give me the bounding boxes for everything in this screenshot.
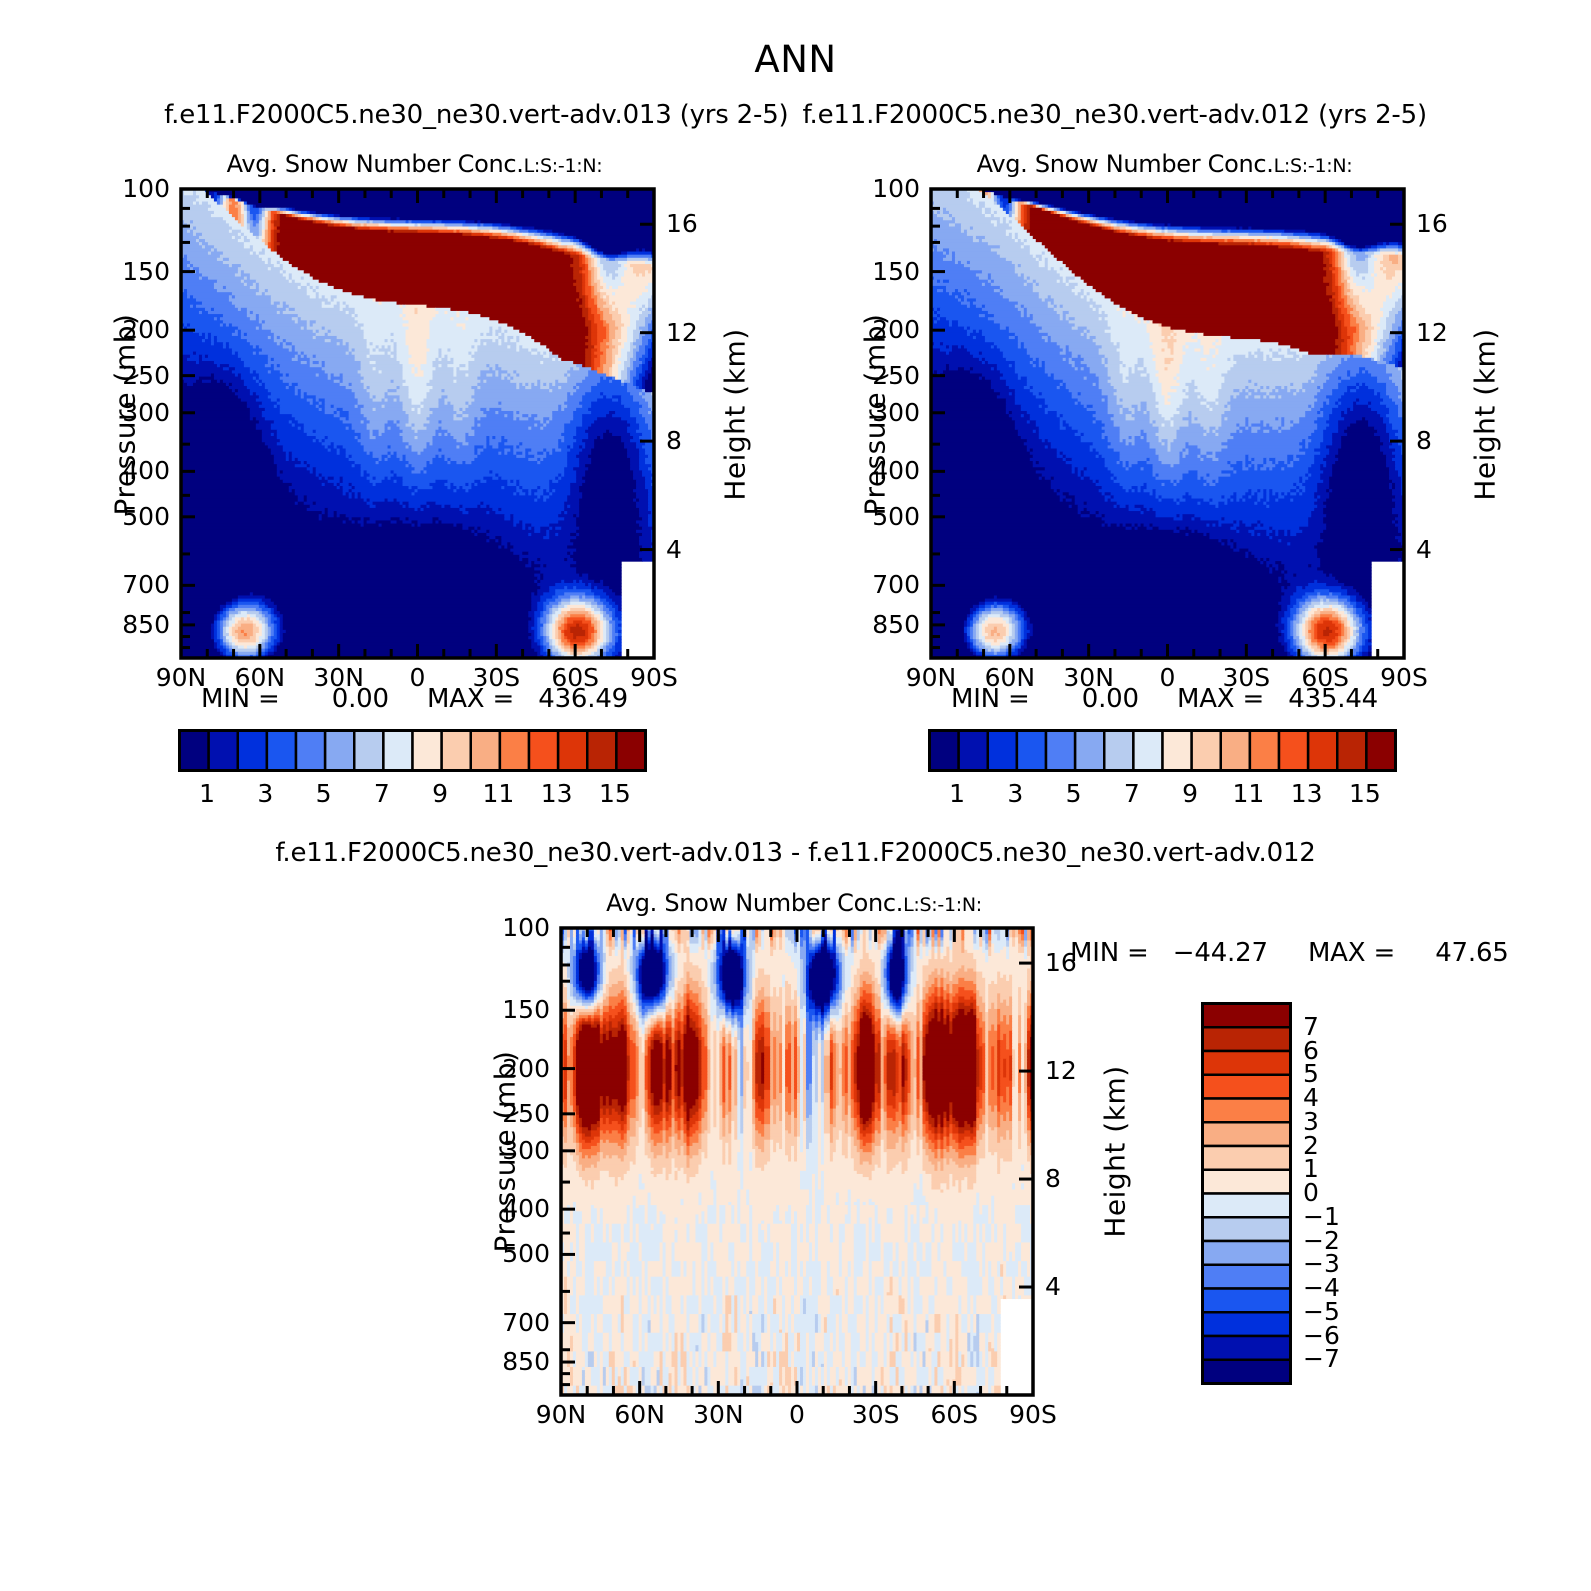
cbar-tick-13: 13 bbox=[1277, 779, 1337, 808]
plot-right[interactable] bbox=[928, 186, 1407, 661]
minmax-right-min-label: MIN = bbox=[951, 684, 1030, 714]
axis-diff-pressure-title: Pressure (mb) bbox=[489, 1002, 522, 1302]
panel-right-subtitle-main: Avg. Snow Number Conc. bbox=[977, 150, 1274, 178]
y2-tick-4: 4 bbox=[666, 537, 682, 562]
axis-right-height-labels: 161284 bbox=[1416, 189, 1476, 658]
axis-left-height-labels: 161284 bbox=[666, 189, 726, 658]
axis-right-height-title: Height (km) bbox=[1469, 265, 1502, 565]
cbar-tick-7: 7 bbox=[1102, 779, 1162, 808]
x-tick-90N: 90N bbox=[516, 1402, 606, 1427]
y2-tick-4: 4 bbox=[1045, 1274, 1061, 1299]
y-tick-100: 100 bbox=[502, 915, 550, 940]
cbar-tick-5: 5 bbox=[1044, 779, 1104, 808]
minmax-diff: MIN = −44.27 MAX = 47.65 bbox=[1070, 938, 1509, 968]
minmax-right: MIN = 0.00 MAX = 435.44 bbox=[928, 684, 1401, 714]
case-header-left: f.e11.F2000C5.ne30_ne30.vert-adv.013 (yr… bbox=[164, 100, 788, 130]
y2-tick-16: 16 bbox=[666, 211, 698, 236]
y-tick-700: 700 bbox=[502, 1310, 550, 1335]
y-tick-100: 100 bbox=[872, 176, 920, 201]
minmax-left-max-value: 436.49 bbox=[538, 684, 628, 714]
cbar-tick-11: 11 bbox=[1218, 779, 1278, 808]
minmax-diff-min-value: −44.27 bbox=[1173, 938, 1268, 968]
y2-tick-12: 12 bbox=[1045, 1058, 1077, 1083]
panel-left-subtitle: Avg. Snow Number Conc.L:S:-1:N: bbox=[178, 150, 651, 178]
x-tick-0: 0 bbox=[752, 1402, 842, 1427]
cbar-tick-7: 7 bbox=[352, 779, 412, 808]
minmax-left-min-label: MIN = bbox=[201, 684, 280, 714]
cbar-tick-15: 15 bbox=[585, 779, 645, 808]
cbar-tick-15: 15 bbox=[1335, 779, 1395, 808]
plot-diff[interactable] bbox=[558, 925, 1036, 1398]
colorbar-left-labels: 13579111315 bbox=[178, 779, 644, 809]
case-headers-row: f.e11.F2000C5.ne30_ne30.vert-adv.013 (yr… bbox=[0, 100, 1591, 130]
axis-diff-latitude-labels: 90N60N30N030S60S90S bbox=[561, 1402, 1033, 1432]
panel-left-subtitle-suffix: L:S:-1:N: bbox=[524, 155, 603, 177]
cbar-tick-9: 9 bbox=[410, 779, 470, 808]
cbar-tick-9: 9 bbox=[1160, 779, 1220, 808]
cbar-tick-3: 3 bbox=[235, 779, 295, 808]
panel-diff-subtitle-main: Avg. Snow Number Conc. bbox=[606, 889, 903, 917]
colorbar-left[interactable] bbox=[178, 729, 648, 773]
minmax-diff-min-label: MIN = bbox=[1070, 938, 1149, 968]
plot-left[interactable] bbox=[178, 186, 657, 661]
y2-tick-12: 12 bbox=[666, 320, 698, 345]
cbar-tick-11: 11 bbox=[468, 779, 528, 808]
main-title: ANN bbox=[0, 38, 1591, 81]
diff-header: f.e11.F2000C5.ne30_ne30.vert-adv.013 - f… bbox=[0, 838, 1591, 868]
colorbar-diff[interactable] bbox=[1201, 1002, 1293, 1386]
x-tick-30S: 30S bbox=[831, 1402, 921, 1427]
y2-tick-4: 4 bbox=[1416, 537, 1432, 562]
axis-right-pressure-title: Pressure (mb) bbox=[859, 265, 892, 565]
y2-tick-8: 8 bbox=[666, 428, 682, 453]
x-tick-90S: 90S bbox=[988, 1402, 1078, 1427]
case-header-right: f.e11.F2000C5.ne30_ne30.vert-adv.012 (yr… bbox=[803, 100, 1427, 130]
colorbar-diff-labels: 76543210−1−2−3−4−5−6−7 bbox=[1303, 1002, 1373, 1382]
minmax-right-max-value: 435.44 bbox=[1288, 684, 1378, 714]
colorbar-right[interactable] bbox=[928, 729, 1398, 773]
axis-left-pressure-title: Pressure (mb) bbox=[109, 265, 142, 565]
y2-tick-8: 8 bbox=[1416, 428, 1432, 453]
minmax-left-max-label: MAX = bbox=[427, 684, 514, 714]
y2-tick-8: 8 bbox=[1045, 1166, 1061, 1191]
y-tick-850: 850 bbox=[502, 1349, 550, 1374]
colorbar-right-labels: 13579111315 bbox=[928, 779, 1394, 809]
minmax-diff-max-label: MAX = bbox=[1308, 938, 1395, 968]
cbar-tick-5: 5 bbox=[294, 779, 354, 808]
minmax-right-min-value: 0.00 bbox=[1082, 684, 1139, 714]
cbar-tick-1: 1 bbox=[177, 779, 237, 808]
minmax-right-max-label: MAX = bbox=[1177, 684, 1264, 714]
minmax-left: MIN = 0.00 MAX = 436.49 bbox=[178, 684, 651, 714]
cbar-tick-13: 13 bbox=[527, 779, 587, 808]
cbar-diff-tick-neg7: −7 bbox=[1303, 1344, 1340, 1373]
panel-right-subtitle-suffix: L:S:-1:N: bbox=[1274, 155, 1353, 177]
y-tick-700: 700 bbox=[872, 572, 920, 597]
cbar-tick-1: 1 bbox=[927, 779, 987, 808]
y2-tick-16: 16 bbox=[1416, 211, 1448, 236]
panel-right-subtitle: Avg. Snow Number Conc.L:S:-1:N: bbox=[928, 150, 1401, 178]
panel-diff-subtitle-suffix: L:S:-1:N: bbox=[903, 894, 982, 916]
axis-diff-height-title: Height (km) bbox=[1099, 1002, 1132, 1302]
cbar-tick-3: 3 bbox=[985, 779, 1045, 808]
panel-left-subtitle-main: Avg. Snow Number Conc. bbox=[227, 150, 524, 178]
minmax-left-min-value: 0.00 bbox=[332, 684, 389, 714]
minmax-diff-max-value: 47.65 bbox=[1435, 938, 1508, 968]
y2-tick-12: 12 bbox=[1416, 320, 1448, 345]
y-tick-700: 700 bbox=[122, 572, 170, 597]
x-tick-30N: 30N bbox=[673, 1402, 763, 1427]
panel-diff-subtitle: Avg. Snow Number Conc.L:S:-1:N: bbox=[558, 889, 1030, 917]
y-tick-850: 850 bbox=[872, 612, 920, 637]
x-tick-60S: 60S bbox=[909, 1402, 999, 1427]
y-tick-850: 850 bbox=[122, 612, 170, 637]
x-tick-60N: 60N bbox=[595, 1402, 685, 1427]
axis-diff-height-labels: 161284 bbox=[1045, 928, 1105, 1395]
y-tick-100: 100 bbox=[122, 176, 170, 201]
axis-left-height-title: Height (km) bbox=[719, 265, 752, 565]
